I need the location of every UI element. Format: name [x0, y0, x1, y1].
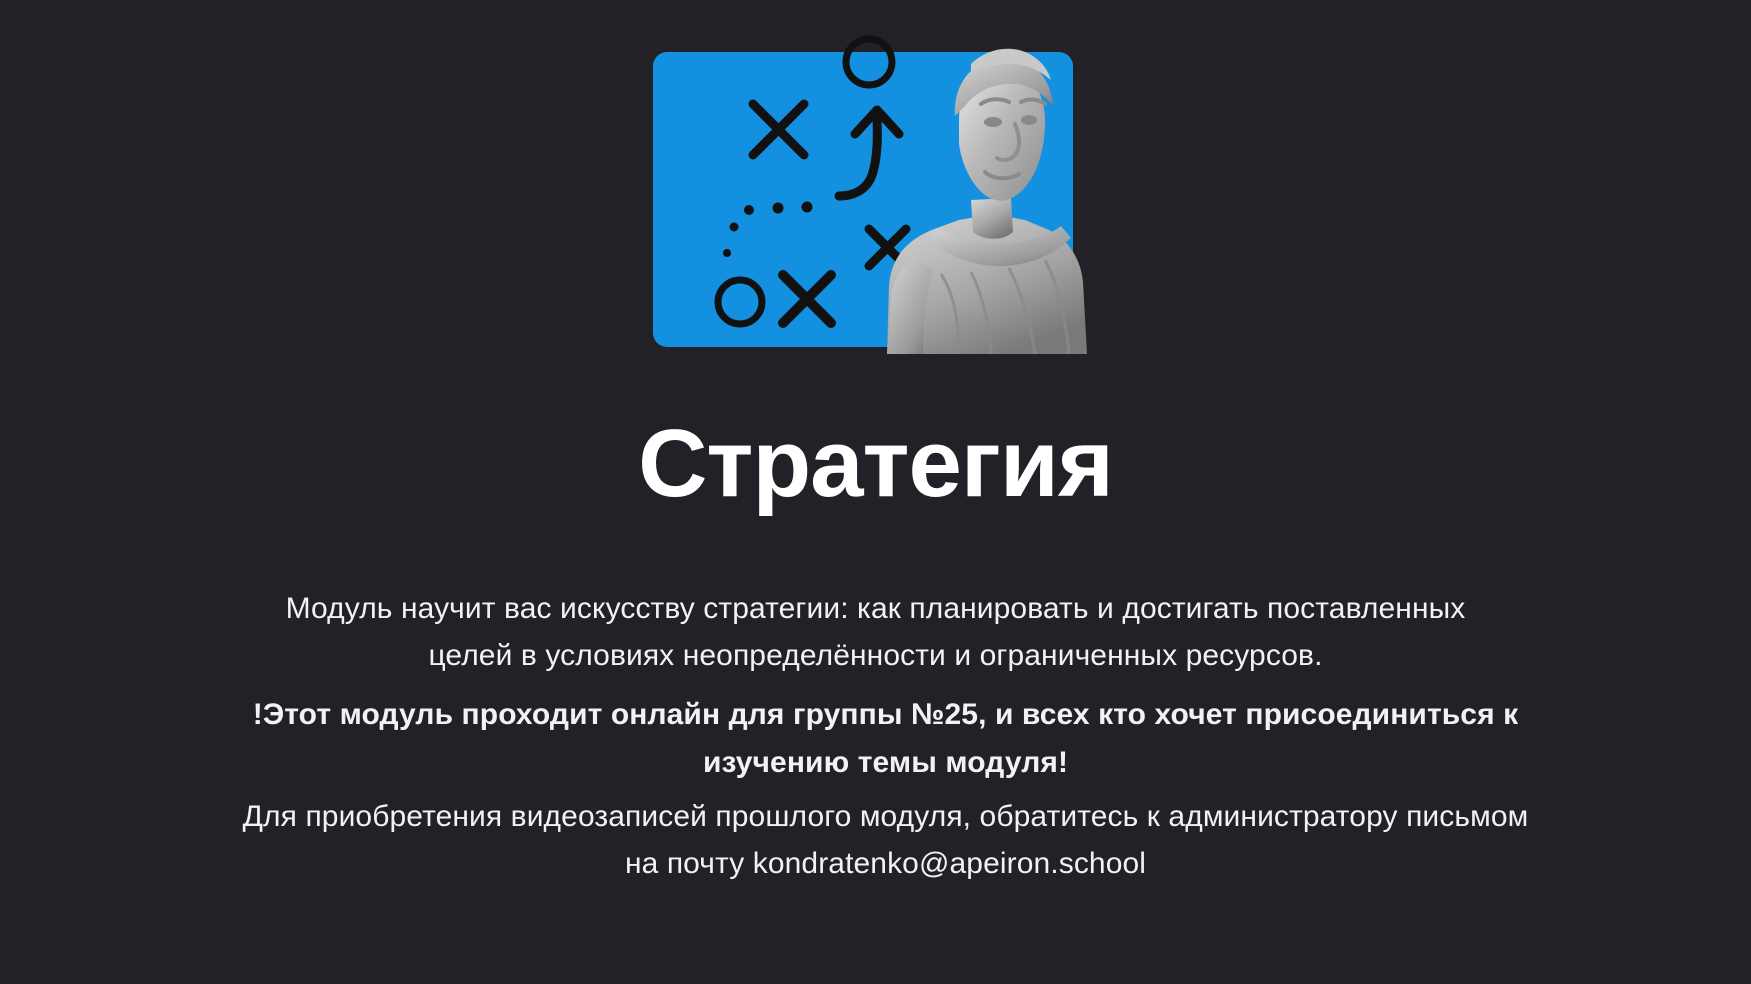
- cross-mark-icon: [753, 104, 804, 155]
- intro-paragraph: Модуль научит вас искусству стратегии: к…: [286, 586, 1466, 679]
- hero-illustration: [641, 24, 1111, 354]
- outro-line-1: Для приобретения видеозаписей прошлого м…: [243, 800, 1398, 833]
- module-description: Модуль научит вас искусству стратегии: к…: [226, 586, 1526, 888]
- module-landing-page: Стратегия Модуль научит вас искусству ст…: [0, 0, 1751, 984]
- circle-outline-icon: [846, 39, 892, 85]
- strategy-board-graphics: [641, 24, 1111, 354]
- circle-outline-icon: [718, 280, 762, 324]
- highlight-announcement: !Этот модуль проходит онлайн для группы …: [226, 691, 1546, 787]
- intro-line-1: Модуль научит вас искусству стратегии: к…: [286, 592, 1259, 625]
- page-title: Стратегия: [638, 416, 1113, 512]
- dotted-path-icon: [723, 202, 813, 258]
- caesar-statue-image: [887, 49, 1087, 354]
- outro-paragraph: Для приобретения видеозаписей прошлого м…: [226, 793, 1546, 888]
- cross-mark-icon: [783, 275, 831, 323]
- curved-arrow-up-icon: [839, 110, 899, 196]
